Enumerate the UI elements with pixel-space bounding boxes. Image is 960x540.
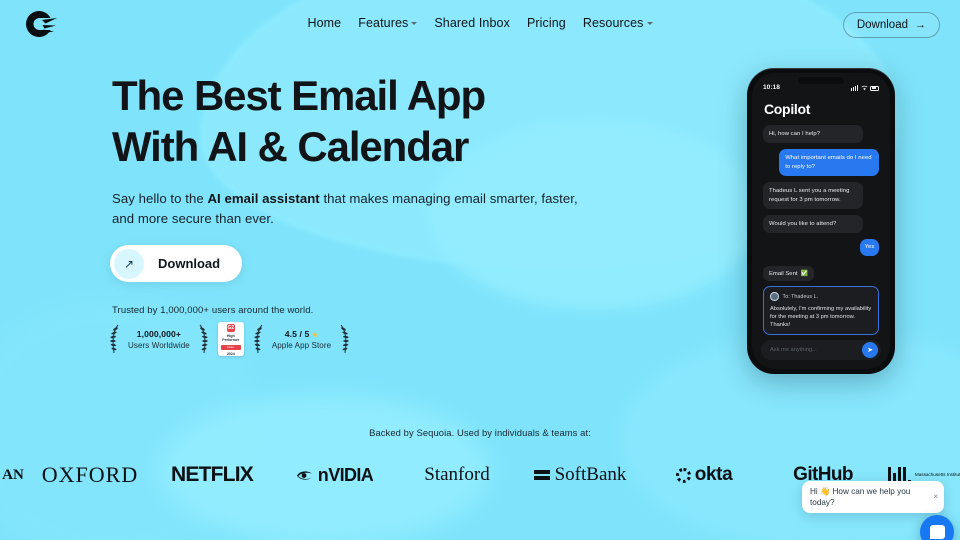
headline-line-1: The Best Email App bbox=[112, 72, 485, 119]
page-title: The Best Email App With AI & Calendar bbox=[112, 70, 632, 172]
g2-title: High Performer bbox=[218, 334, 244, 343]
logo-mit-subtext: Massachusetts Institute of Technology bbox=[915, 472, 960, 478]
nav-download-button[interactable]: Download → bbox=[843, 12, 940, 38]
chat-message-user: What important emails do I need to reply… bbox=[779, 149, 879, 176]
chat-message-bot: Hi, how can I help? bbox=[763, 125, 863, 143]
chat-widget-greeting[interactable]: Hi 👋 How can we help you today? × bbox=[802, 481, 944, 513]
logo-softbank-text: SoftBank bbox=[555, 464, 627, 486]
arrow-right-icon: → bbox=[915, 19, 926, 31]
trusted-caption: Trusted by 1,000,000+ users around the w… bbox=[112, 305, 313, 316]
subtitle-part-1: Say hello to the bbox=[112, 191, 207, 206]
headline-line-2: With AI & Calendar bbox=[112, 123, 468, 170]
softbank-mark-icon bbox=[534, 470, 550, 479]
laurel-left-icon bbox=[108, 324, 120, 354]
email-preview-card[interactable]: To: Thadeus L. Absolutely, I'm confirmin… bbox=[763, 286, 879, 335]
email-recipient: To: Thadeus L. bbox=[783, 294, 819, 300]
nav-item-label: Pricing bbox=[527, 16, 566, 30]
email-sent-label: Email Sent bbox=[769, 271, 797, 277]
nav-item-pricing[interactable]: Pricing bbox=[527, 16, 566, 30]
nav-item-home[interactable]: Home bbox=[307, 16, 341, 30]
chat-message-bot: Thadeus L sent you a meeting request for… bbox=[763, 182, 863, 209]
logo-stanford: Stanford bbox=[398, 464, 516, 486]
send-icon[interactable]: ➤ bbox=[862, 342, 878, 358]
subtitle-highlight: AI email assistant bbox=[207, 191, 319, 206]
badge-users: 1,000,000+ Users Worldwide bbox=[122, 329, 196, 350]
email-sent-chip: Email Sent ✅ bbox=[763, 266, 814, 281]
logo-nvidia-text: nVIDIA bbox=[318, 465, 373, 486]
g2-high-performer-badge: G2 High Performer FALL 2024 bbox=[218, 322, 244, 356]
hero-download-label: Download bbox=[158, 256, 220, 271]
logo-netflix: NETFLIX bbox=[154, 463, 270, 487]
nav-item-resources[interactable]: Resources bbox=[583, 16, 653, 30]
trust-badges: 1,000,000+ Users Worldwide G2 High Perfo… bbox=[108, 322, 351, 356]
logo-okta: okta bbox=[644, 464, 764, 486]
top-navbar: Home Features Shared Inbox Pricing Resou… bbox=[0, 0, 960, 50]
logo-okta-text: okta bbox=[695, 464, 732, 486]
g2-year: 2024 bbox=[227, 352, 235, 356]
badge-users-label: Users Worldwide bbox=[128, 341, 190, 350]
nav-links: Home Features Shared Inbox Pricing Resou… bbox=[0, 16, 960, 30]
chat-widget-greeting-text: Hi 👋 How can we help you today? bbox=[810, 486, 924, 508]
logo-softbank: SoftBank bbox=[516, 464, 644, 486]
badge-users-value: 1,000,000+ bbox=[128, 329, 190, 339]
nav-item-label: Home bbox=[307, 16, 341, 30]
status-time: 10:18 bbox=[763, 84, 780, 91]
status-icons bbox=[851, 85, 879, 91]
nav-item-label: Shared Inbox bbox=[434, 16, 510, 30]
hero-download-button[interactable]: ↗ Download bbox=[110, 245, 242, 282]
email-card-header: To: Thadeus L. bbox=[770, 292, 872, 301]
nav-item-label: Resources bbox=[583, 16, 644, 30]
star-icon: ★ bbox=[312, 332, 318, 339]
battery-icon bbox=[870, 86, 879, 91]
chat-message-bot: Would you like to attend? bbox=[763, 215, 863, 233]
phone-screen: 10:18 Copilot Hi, how can I help? What i… bbox=[752, 73, 890, 369]
nav-item-label: Features bbox=[358, 16, 408, 30]
appstore-rating: 4.5 / 5 bbox=[285, 329, 310, 339]
chat-bubble-icon bbox=[930, 525, 945, 539]
chevron-down-icon bbox=[411, 22, 417, 25]
g2-season: FALL bbox=[221, 345, 241, 350]
nav-item-shared-inbox[interactable]: Shared Inbox bbox=[434, 16, 510, 30]
signal-icon bbox=[851, 85, 858, 90]
nav-item-features[interactable]: Features bbox=[358, 16, 417, 30]
wifi-icon bbox=[861, 85, 868, 91]
email-body-text: Absolutely, I'm confirming my availabili… bbox=[770, 305, 872, 330]
phone-status-bar: 10:18 bbox=[752, 82, 890, 93]
phone-mockup: 10:18 Copilot Hi, how can I help? What i… bbox=[747, 68, 895, 374]
hero-subtitle: Say hello to the AI email assistant that… bbox=[112, 189, 582, 229]
chat-composer[interactable]: Ask me anything... ➤ bbox=[761, 340, 881, 360]
chevron-down-icon bbox=[647, 22, 653, 25]
laurel-right-icon bbox=[198, 324, 210, 354]
close-icon[interactable]: × bbox=[933, 492, 938, 501]
backed-by-caption: Backed by Sequoia. Used by individuals &… bbox=[0, 427, 960, 438]
avatar bbox=[770, 292, 779, 301]
logo-nvidia: nVIDIA bbox=[270, 465, 398, 486]
chat-message-user-yes[interactable]: Yes bbox=[860, 239, 879, 255]
okta-mark-icon bbox=[676, 468, 691, 483]
chat-thread: Hi, how can I help? What important email… bbox=[752, 125, 890, 340]
chat-input-placeholder[interactable]: Ask me anything... bbox=[770, 347, 862, 353]
badge-appstore: 4.5 / 5 ★ Apple App Store bbox=[266, 329, 337, 350]
nvidia-eye-icon bbox=[295, 469, 314, 482]
g2-logo-icon: G2 bbox=[227, 324, 235, 332]
nav-download-label: Download bbox=[857, 19, 908, 31]
check-mark-icon: ✅ bbox=[800, 270, 807, 277]
copilot-title: Copilot bbox=[764, 101, 810, 117]
logo-cut-left: AN bbox=[0, 467, 26, 484]
arrow-up-right-icon: ↗ bbox=[114, 249, 144, 279]
laurel-right-icon-2 bbox=[339, 324, 351, 354]
badge-appstore-value: 4.5 / 5 ★ bbox=[272, 329, 331, 339]
badge-appstore-label: Apple App Store bbox=[272, 341, 331, 350]
logo-oxford: OXFORD bbox=[26, 462, 154, 488]
hero-section: The Best Email App With AI & Calendar Sa… bbox=[112, 70, 632, 229]
laurel-left-icon-2 bbox=[252, 324, 264, 354]
